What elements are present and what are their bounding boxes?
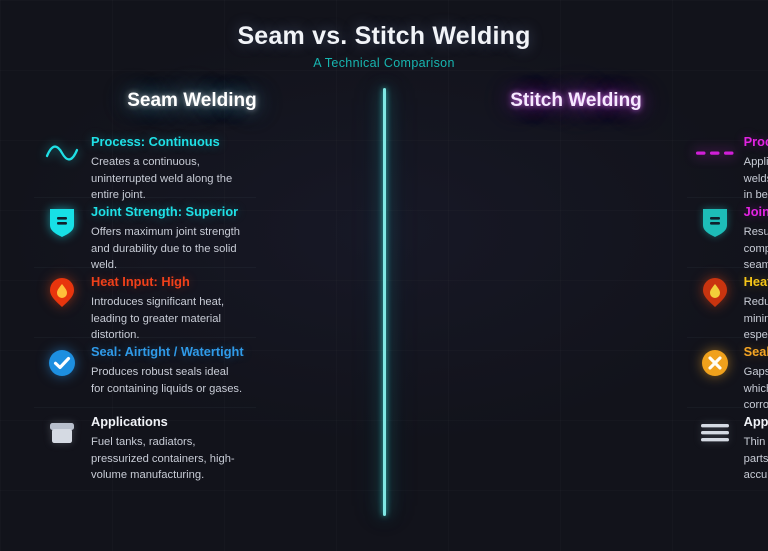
- shield-badge-icon: [695, 205, 735, 241]
- container-box-icon: [42, 415, 82, 451]
- list-item-text: Joint Strength: Weaker Results in a less…: [735, 203, 768, 274]
- list-item-text: Joint Strength: Superior Offers maximum …: [82, 203, 244, 274]
- shield-badge-icon: [42, 205, 82, 241]
- list-item-desc: Fuel tanks, radiators, pressurized conta…: [91, 434, 244, 484]
- list-item: Applications Thin sheet metal, structura…: [695, 407, 768, 485]
- flame-pin-icon: [695, 275, 735, 311]
- check-circle-icon: [42, 345, 82, 381]
- list-item-desc: Produces robust seals ideal for containi…: [91, 364, 244, 397]
- infographic-canvas: Seam vs. Stitch Welding A Technical Comp…: [0, 0, 768, 551]
- list-item-title: Applications: [91, 414, 244, 430]
- page-subtitle: A Technical Comparison: [0, 56, 768, 70]
- wave-icon: [42, 135, 82, 171]
- stacked-layers-icon: [695, 415, 735, 451]
- list-item: Applications Fuel tanks, radiators, pres…: [42, 407, 244, 485]
- list-item-text: Process: Continuous Creates a continuous…: [82, 133, 244, 204]
- column-heading-seam: Seam Welding: [0, 90, 384, 112]
- list-item: Joint Strength: Weaker Results in a less…: [695, 197, 768, 267]
- list-item-text: Seal: Airtight / Watertight Produces rob…: [82, 343, 244, 397]
- list-item-title: Seal: Airtight / Watertight: [91, 344, 244, 360]
- list-item-text: Applications Fuel tanks, radiators, pres…: [82, 413, 244, 484]
- list-item-title: Process: Continuous: [91, 134, 244, 150]
- list-item-title: Heat Input: Low: [744, 274, 768, 290]
- list-item-text: Process: Intermittent Applies short, sep…: [735, 133, 768, 204]
- list-item: Process: Intermittent Applies short, sep…: [695, 127, 768, 197]
- list-item: Seal: Airtight / Watertight Produces rob…: [42, 337, 244, 407]
- list-item-title: Heat Input: High: [91, 274, 244, 290]
- flame-pin-icon: [42, 275, 82, 311]
- x-circle-icon: [695, 345, 735, 381]
- dashed-line-icon: [695, 135, 735, 171]
- list-item-title: Joint Strength: Weaker: [744, 204, 768, 220]
- list-item-text: Heat Input: High Introduces significant …: [82, 273, 244, 344]
- column-stitch-welding: Process: Intermittent Applies short, sep…: [284, 127, 768, 487]
- list-item: Heat Input: Low Reduces heat input, mini…: [695, 267, 768, 337]
- list-item: Heat Input: High Introduces significant …: [42, 267, 244, 337]
- comparison-columns: Process: Continuous Creates a continuous…: [0, 127, 768, 487]
- list-item-text: Applications Thin sheet metal, structura…: [735, 413, 768, 484]
- list-item-text: Heat Input: Low Reduces heat input, mini…: [735, 273, 768, 344]
- header: Seam vs. Stitch Welding A Technical Comp…: [0, 0, 768, 70]
- column-heading-stitch: Stitch Welding: [384, 90, 768, 112]
- list-item: Process: Continuous Creates a continuous…: [42, 127, 244, 197]
- list-item-title: Applications: [744, 414, 768, 430]
- list-item-title: Joint Strength: Superior: [91, 204, 244, 220]
- list-item-text: Seal: Not Sealed Gaps create crevices, w…: [735, 343, 768, 414]
- page-title: Seam vs. Stitch Welding: [0, 22, 768, 51]
- list-item: Joint Strength: Superior Offers maximum …: [42, 197, 244, 267]
- list-item-desc: Thin sheet metal, structural parts, wher…: [744, 434, 768, 484]
- list-item: Seal: Not Sealed Gaps create crevices, w…: [695, 337, 768, 407]
- column-seam-welding: Process: Continuous Creates a continuous…: [0, 127, 284, 487]
- list-item-title: Process: Intermittent: [744, 134, 768, 150]
- list-item-title: Seal: Not Sealed: [744, 344, 768, 360]
